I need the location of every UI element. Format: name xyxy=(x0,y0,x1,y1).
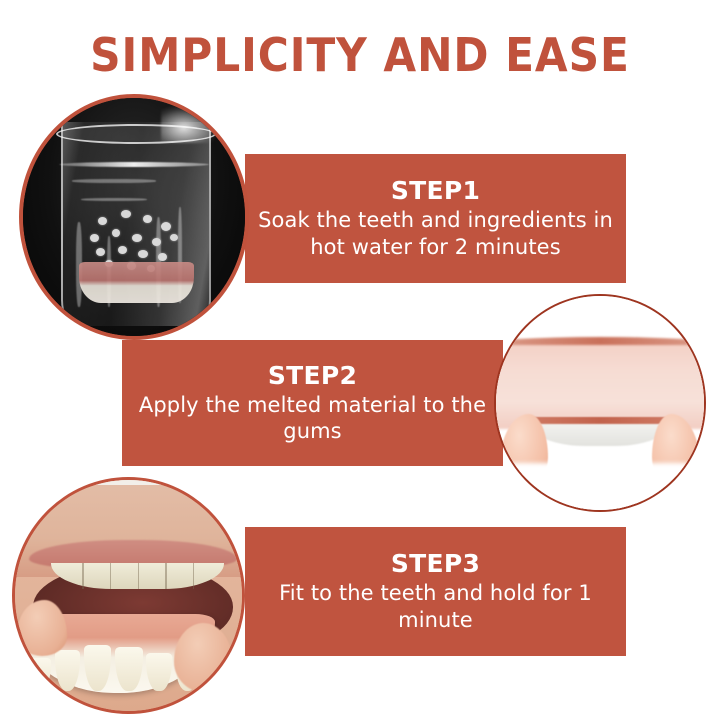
infographic-canvas: SIMPLICITY AND EASE STEP1 Soak the teeth… xyxy=(0,0,720,720)
step-card-1: STEP1 Soak the teeth and ingredients in … xyxy=(245,154,626,283)
step-3-label: STEP3 xyxy=(391,550,480,578)
step-card-2: STEP2 Apply the melted material to the g… xyxy=(122,340,503,466)
step-2-label: STEP2 xyxy=(268,362,357,390)
denture-in-glass-image xyxy=(23,98,245,336)
step-1-description: Soak the teeth and ingredients in hot wa… xyxy=(245,207,626,259)
step-1-label: STEP1 xyxy=(391,177,480,205)
fingers-holding-denture-image xyxy=(496,296,704,510)
step-card-3: STEP3 Fit to the teeth and hold for 1 mi… xyxy=(245,527,626,656)
step-3-description: Fit to the teeth and hold for 1 minute xyxy=(245,580,626,632)
step-3-photo xyxy=(12,477,245,714)
step-1-photo xyxy=(19,94,249,340)
denture-fitted-to-teeth-image xyxy=(15,480,242,711)
step-2-description: Apply the melted material to the gums xyxy=(125,392,501,444)
step-2-photo xyxy=(494,294,706,512)
page-title: SIMPLICITY AND EASE xyxy=(29,28,691,82)
